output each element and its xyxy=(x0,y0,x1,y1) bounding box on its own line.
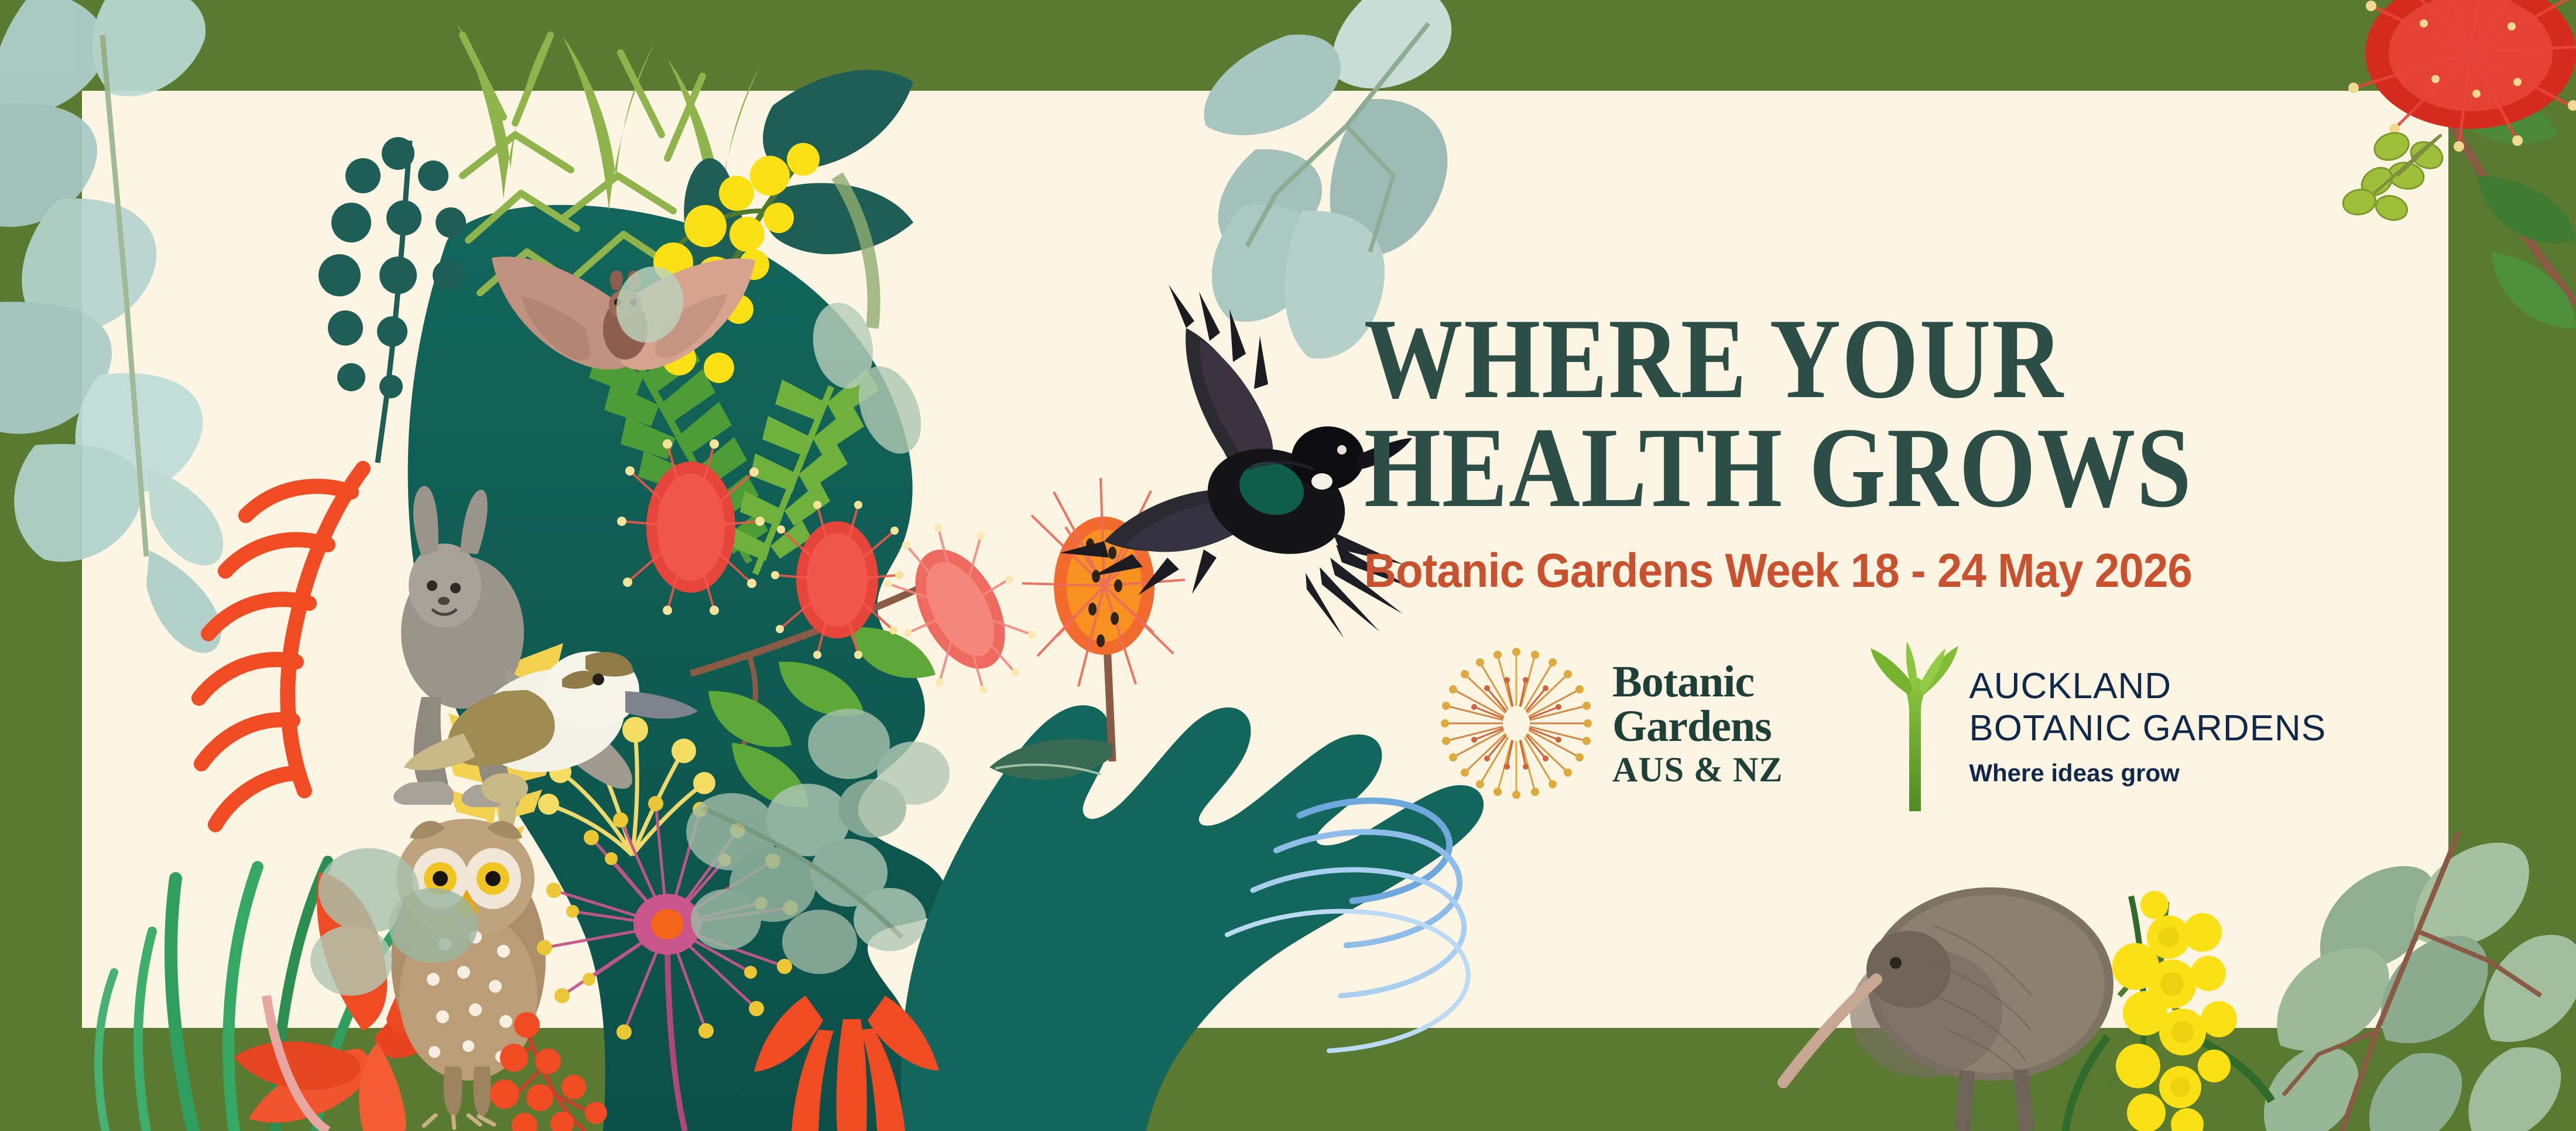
headline-line-1: WHERE YOUR xyxy=(1364,295,2064,422)
eucalyptus-top-left xyxy=(0,0,223,653)
coral-motif xyxy=(199,469,363,825)
event-dates: Botanic Gardens Week 18 - 24 May 2026 xyxy=(1364,544,2344,599)
abg-name-line-1: AUCKLAND xyxy=(1969,665,2326,708)
bganz-wordmark: Botanic Gardens AUS & NZ xyxy=(1612,660,1783,787)
logo-auckland-botanic-gardens[interactable]: AUCKLAND BOTANIC GARDENS Where ideas gro… xyxy=(1871,641,2326,811)
logo-bganz[interactable]: Botanic Gardens AUS & NZ xyxy=(1434,641,1783,805)
banner-root: WHERE YOUR HEALTH GROWS Botanic Gardens … xyxy=(0,0,2576,1131)
dandelion-sunburst-icon xyxy=(1434,641,1598,805)
kiwi-bird xyxy=(1783,887,2113,1131)
abg-wordmark: AUCKLAND BOTANIC GARDENS Where ideas gro… xyxy=(1969,665,2326,787)
flax-plant-icon xyxy=(1871,641,1958,811)
text-block: WHERE YOUR HEALTH GROWS Botanic Gardens … xyxy=(1364,305,2418,599)
logo-row: Botanic Gardens AUS & NZ AUCKLAND BOTANI… xyxy=(1434,641,2326,811)
bganz-name-line-2: Gardens xyxy=(1612,704,1783,749)
owl xyxy=(391,819,546,1128)
abg-name-line-2: BOTANIC GARDENS xyxy=(1969,708,2326,750)
abg-tagline: Where ideas grow xyxy=(1969,759,2326,787)
bottlebrush-top-right xyxy=(2341,0,2576,328)
page-title: WHERE YOUR HEALTH GROWS xyxy=(1364,305,2270,522)
bganz-region: AUS & NZ xyxy=(1612,752,1783,787)
bganz-name-line-1: Botanic xyxy=(1612,660,1783,704)
headline-line-2: HEALTH GROWS xyxy=(1364,414,2270,522)
eucalyptus-bottom-right xyxy=(2264,832,2576,1131)
